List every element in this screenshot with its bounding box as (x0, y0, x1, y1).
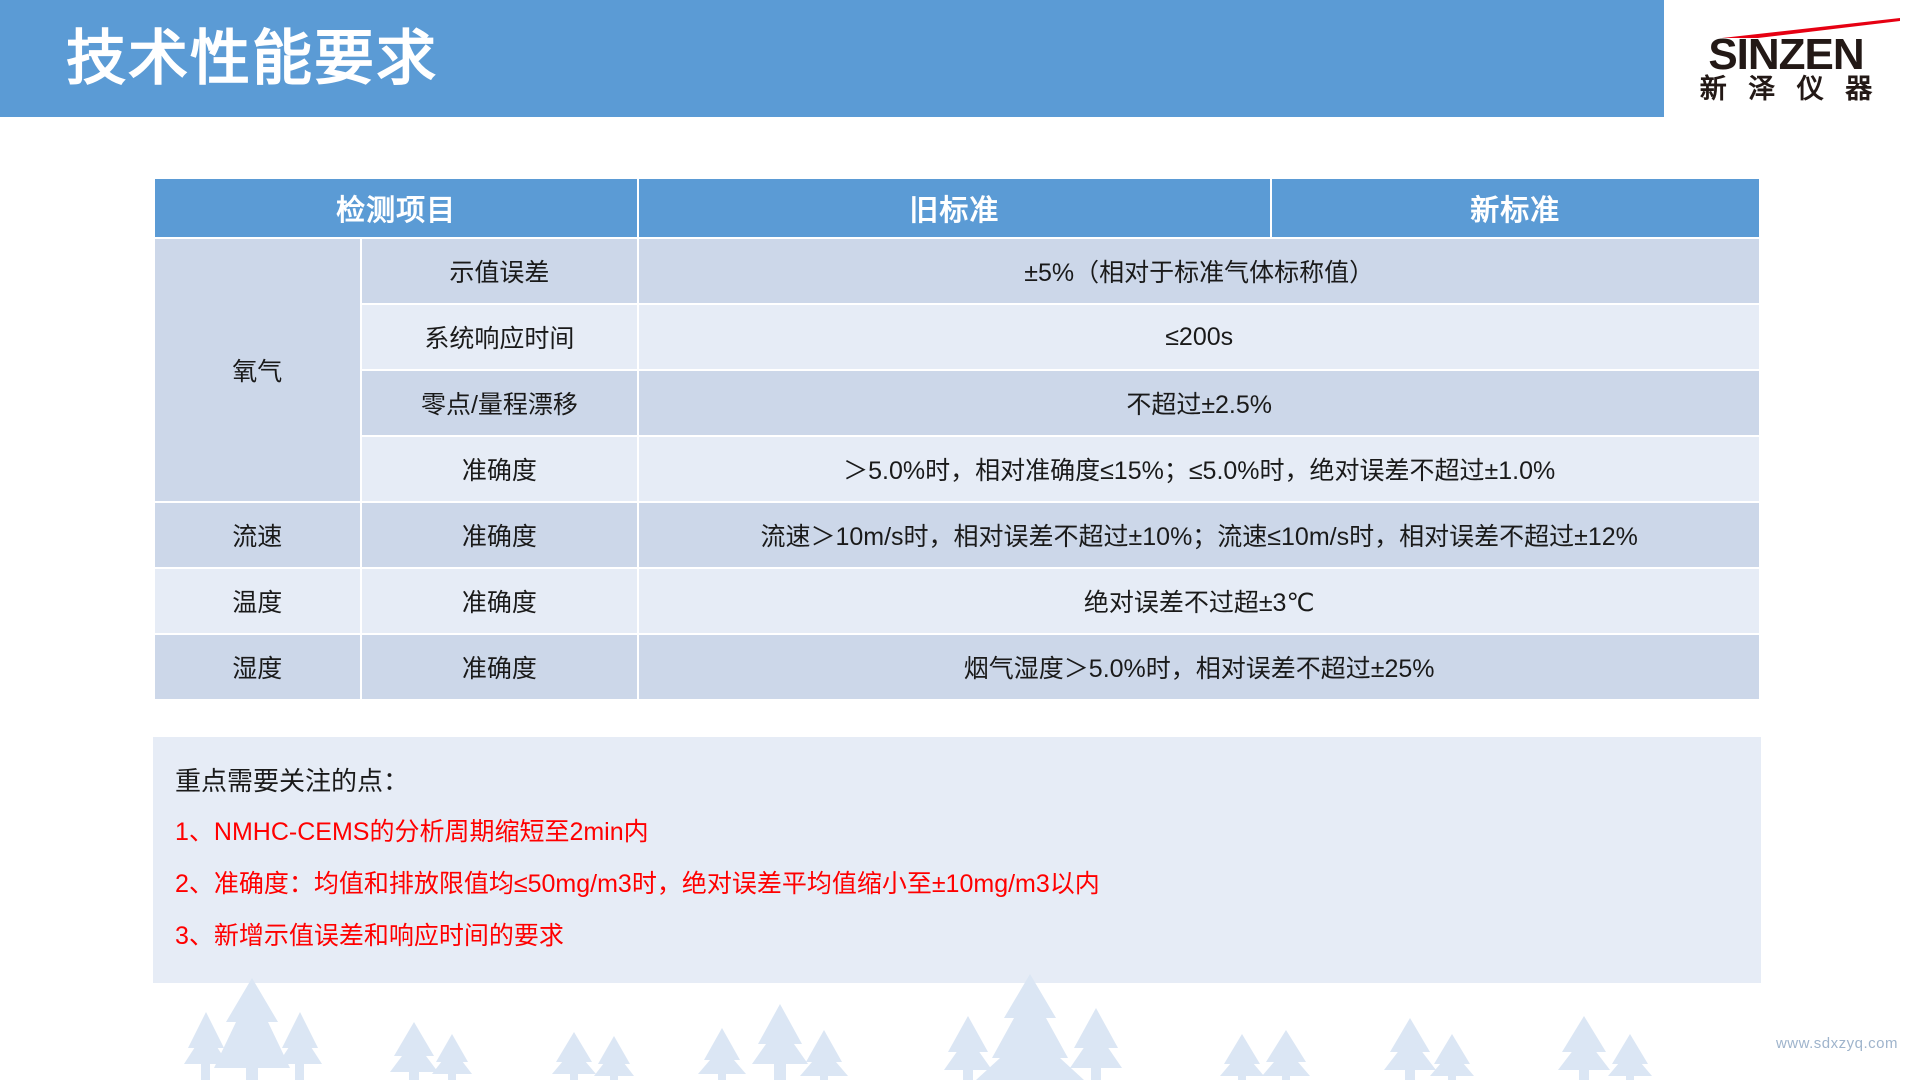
page-title: 技术性能要求 (66, 14, 438, 104)
table-row: 零点/量程漂移 不超过±2.5% (155, 371, 1759, 435)
row-category: 湿度 (155, 635, 360, 699)
logo-brand-latin: SINZEN (1670, 32, 1902, 78)
row-item: 准确度 (362, 503, 638, 567)
table-row: 温度 准确度 绝对误差不过超±3℃ (155, 569, 1759, 633)
row-item: 示值误差 (362, 239, 638, 303)
row-value: ±5%（相对于标准气体标称值） (639, 239, 1759, 303)
column-header-old-standard: 旧标准 (639, 179, 1269, 237)
table-row: 氧气 示值误差 ±5%（相对于标准气体标称值） (155, 239, 1759, 303)
table-row: 流速 准确度 流速＞10m/s时，相对误差不超过±10%；流速≤10m/s时，相… (155, 503, 1759, 567)
row-value: 流速＞10m/s时，相对误差不超过±10%；流速≤10m/s时，相对误差不超过±… (639, 503, 1759, 567)
technical-spec-table: 检测项目 旧标准 新标准 氧气 示值误差 ±5%（相对于标准气体标称值） 系统响… (153, 177, 1761, 701)
table-header: 检测项目 旧标准 新标准 (155, 179, 1759, 237)
company-logo: SINZEN 新 泽 仪 器 (1670, 8, 1902, 104)
row-value: 不超过±2.5% (639, 371, 1759, 435)
row-value: 绝对误差不过超±3℃ (639, 569, 1759, 633)
row-item: 系统响应时间 (362, 305, 638, 369)
row-item: 准确度 (362, 635, 638, 699)
key-point-item: 3、新增示值误差和响应时间的要求 (153, 909, 1761, 961)
table-row: 系统响应时间 ≤200s (155, 305, 1759, 369)
website-url: www.sdxzyq.com (1776, 1035, 1898, 1052)
row-item: 准确度 (362, 437, 638, 501)
table-row: 湿度 准确度 烟气湿度＞5.0%时，相对误差不超过±25% (155, 635, 1759, 699)
logo-brand-chinese: 新 泽 仪 器 (1670, 74, 1902, 104)
column-header-new-standard: 新标准 (1272, 179, 1759, 237)
spec-table-wrapper: 检测项目 旧标准 新标准 氧气 示值误差 ±5%（相对于标准气体标称值） 系统响… (153, 177, 1761, 701)
column-header-item: 检测项目 (155, 179, 637, 237)
row-value: ＞5.0%时，相对准确度≤15%；≤5.0%时，绝对误差不超过±1.0% (639, 437, 1759, 501)
table-row: 准确度 ＞5.0%时，相对准确度≤15%；≤5.0%时，绝对误差不超过±1.0% (155, 437, 1759, 501)
key-points-panel: 重点需要关注的点： 1、NMHC-CEMS的分析周期缩短至2min内 2、准确度… (153, 737, 1761, 983)
row-value: 烟气湿度＞5.0%时，相对误差不超过±25% (639, 635, 1759, 699)
key-points-title: 重点需要关注的点： (153, 755, 1761, 805)
row-category: 温度 (155, 569, 360, 633)
row-item: 准确度 (362, 569, 638, 633)
table-body: 氧气 示值误差 ±5%（相对于标准气体标称值） 系统响应时间 ≤200s 零点/… (155, 239, 1759, 699)
row-item: 零点/量程漂移 (362, 371, 638, 435)
key-point-item: 2、准确度：均值和排放限值均≤50mg/m3时，绝对误差平均值缩小至±10mg/… (153, 857, 1761, 909)
row-value: ≤200s (639, 305, 1759, 369)
key-point-item: 1、NMHC-CEMS的分析周期缩短至2min内 (153, 805, 1761, 857)
row-category: 氧气 (155, 239, 360, 501)
row-category: 流速 (155, 503, 360, 567)
table-header-row: 检测项目 旧标准 新标准 (155, 179, 1759, 237)
